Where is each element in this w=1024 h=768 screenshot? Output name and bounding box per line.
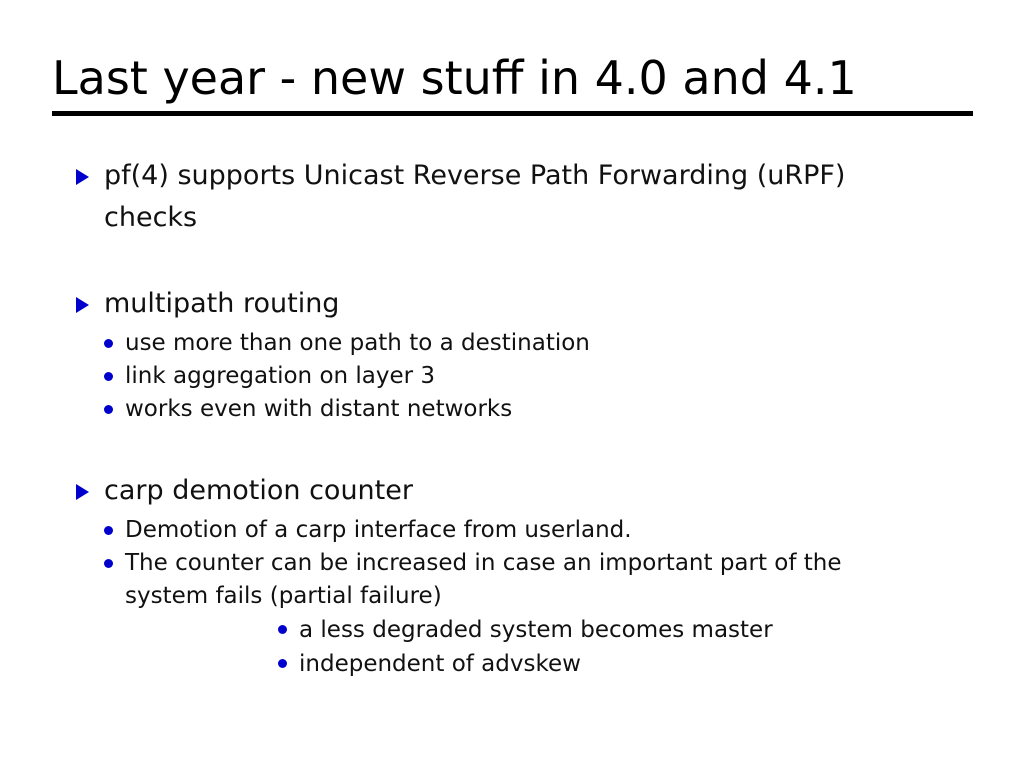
bullet-level3-label: independent of advskew xyxy=(299,651,581,677)
triangle-right-bullet-icon xyxy=(76,484,89,500)
dot-bullet-icon xyxy=(104,526,113,535)
bullet-level2: The counter can be increased in case an … xyxy=(0,547,1024,681)
bullet-level1-label: carp demotion counter xyxy=(104,475,413,506)
bullet-level2: use more than one path to a destination xyxy=(0,327,1024,360)
bullet-level2: works even with distant networks xyxy=(0,393,1024,426)
bullet-level3: independent of advskew xyxy=(125,647,892,681)
dot-bullet-icon xyxy=(104,405,113,414)
bullet-level1-label: pf(4) supports Unicast Reverse Path Forw… xyxy=(104,160,845,233)
dot-bullet-icon xyxy=(278,659,287,668)
title-divider xyxy=(52,111,973,116)
bullet-level2-label: works even with distant networks xyxy=(125,396,512,422)
bullet-level2: Demotion of a carp interface from userla… xyxy=(0,514,1024,547)
bullet-group: carp demotion counter Demotion of a carp… xyxy=(0,470,1024,681)
bullet-level1-label: multipath routing xyxy=(104,288,339,319)
slide: Last year - new stuff in 4.0 and 4.1 pf(… xyxy=(0,0,1024,768)
dot-bullet-icon xyxy=(104,339,113,348)
bullet-level2-label: Demotion of a carp interface from userla… xyxy=(125,517,632,543)
bullet-level2-label: link aggregation on layer 3 xyxy=(125,363,435,389)
bullet-group: pf(4) supports Unicast Reverse Path Forw… xyxy=(0,155,1024,239)
bullet-level1: carp demotion counter xyxy=(0,470,1024,512)
bullet-level1: multipath routing xyxy=(0,283,1024,325)
dot-bullet-icon xyxy=(104,559,113,568)
bullet-level2-list: Demotion of a carp interface from userla… xyxy=(0,514,1024,681)
dot-bullet-icon xyxy=(104,372,113,381)
bullet-level2-label: The counter can be increased in case an … xyxy=(125,550,842,609)
dot-bullet-icon xyxy=(278,625,287,634)
triangle-right-bullet-icon xyxy=(76,169,89,185)
bullet-level3-label: a less degraded system becomes master xyxy=(299,617,773,643)
title-block: Last year - new stuff in 4.0 and 4.1 xyxy=(52,50,973,116)
page-title: Last year - new stuff in 4.0 and 4.1 xyxy=(52,50,973,106)
bullet-level1: pf(4) supports Unicast Reverse Path Forw… xyxy=(0,155,1024,239)
bullet-group: multipath routing use more than one path… xyxy=(0,283,1024,426)
bullet-level3-list: a less degraded system becomes master in… xyxy=(125,613,892,681)
slide-body: pf(4) supports Unicast Reverse Path Forw… xyxy=(0,155,1024,681)
bullet-level3: a less degraded system becomes master xyxy=(125,613,892,647)
bullet-level2-label: use more than one path to a destination xyxy=(125,330,590,356)
bullet-level2: link aggregation on layer 3 xyxy=(0,360,1024,393)
triangle-right-bullet-icon xyxy=(76,297,89,313)
bullet-level2-list: use more than one path to a destination … xyxy=(0,327,1024,426)
